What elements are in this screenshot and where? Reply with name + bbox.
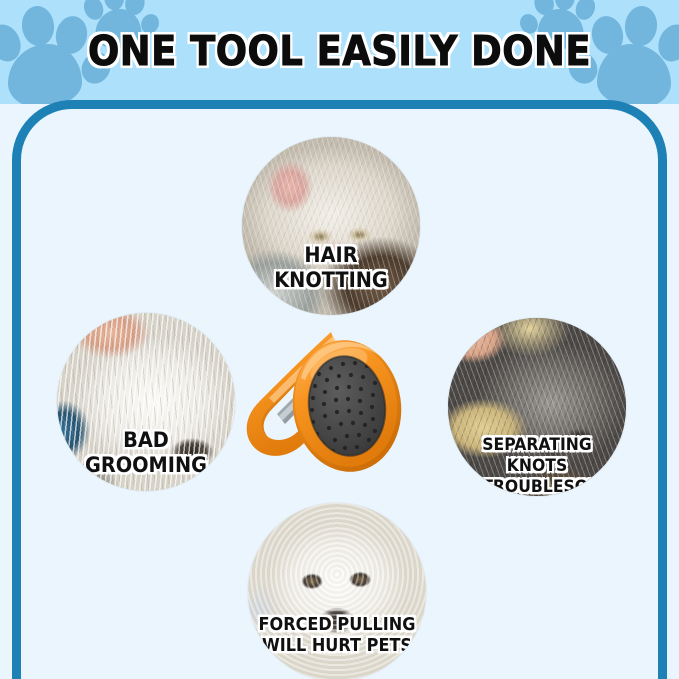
- problem-circle-bad-grooming: BAD GROOMING: [57, 313, 235, 491]
- circle-caption-separating-knots: SEPARATING KNOTS IS TROUBLESOME: [455, 435, 619, 496]
- caption-line-2: KNOTTING: [249, 268, 413, 293]
- caption-line-1: HAIR: [249, 243, 413, 268]
- caption-line-1: SEPARATING KNOTS: [455, 435, 619, 477]
- header-band: ONE TOOL EASILY DONE: [0, 0, 679, 104]
- caption-line-2: GROOMING: [64, 453, 228, 478]
- problem-circle-separating-knots: SEPARATING KNOTS IS TROUBLESOME: [448, 318, 626, 496]
- problem-circle-forced-pulling: FORCED PULLING WILL HURT PETS: [248, 503, 426, 679]
- caption-line-1: BAD: [64, 428, 228, 453]
- caption-line-1: FORCED PULLING: [255, 615, 419, 636]
- product-infographic-poster: ONE TOOL EASILY DONE HAIR KNOTTING BAD G…: [0, 0, 679, 679]
- problem-circle-hair-knotting: HAIR KNOTTING: [242, 137, 420, 315]
- product-image-grooming-tool: [243, 330, 407, 490]
- circle-caption-forced-pulling: FORCED PULLING WILL HURT PETS: [255, 615, 419, 657]
- circle-caption-hair-knotting: HAIR KNOTTING: [249, 243, 413, 293]
- caption-line-2: WILL HURT PETS: [255, 636, 419, 657]
- circle-caption-bad-grooming: BAD GROOMING: [64, 428, 228, 478]
- oval-rasp-head-part: [284, 333, 407, 479]
- caption-line-2: IS TROUBLESOME: [455, 477, 619, 496]
- page-title: ONE TOOL EASILY DONE: [34, 26, 645, 76]
